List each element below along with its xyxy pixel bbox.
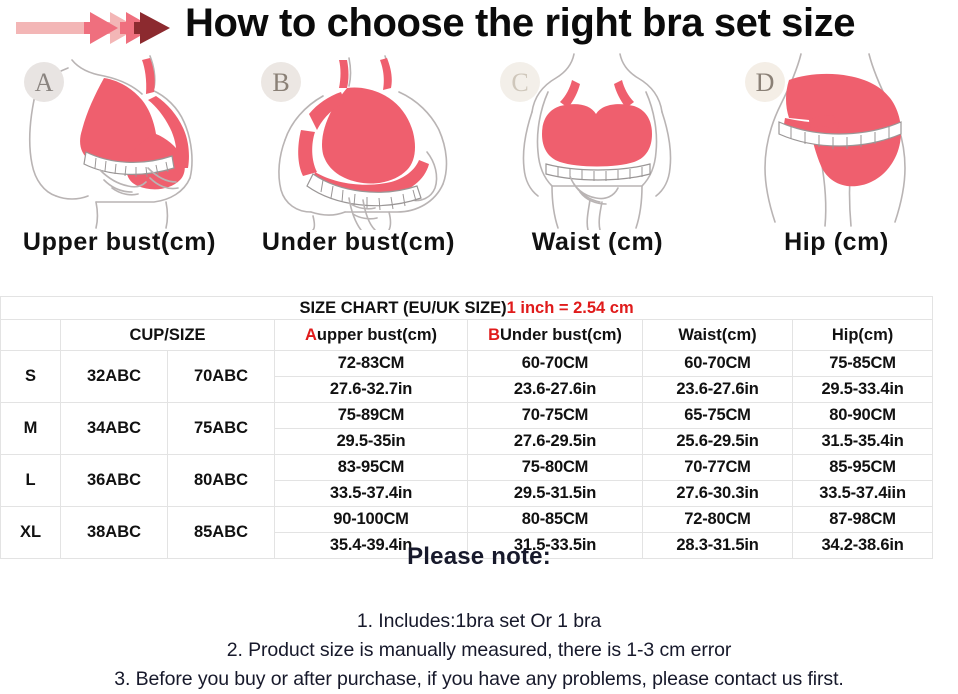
table-row: XL 38ABC 85ABC 90-100CM 80-85CM 72-80CM …: [1, 507, 933, 533]
badge-a-icon: A: [22, 60, 66, 104]
svg-text:C: C: [511, 68, 528, 97]
table-header-row: CUP/SIZE Aupper bust(cm) BUnder bust(cm)…: [1, 320, 933, 351]
size-label-m: M: [1, 403, 61, 455]
table-title-row: SIZE CHART (EU/UK SIZE)1 inch = 2.54 cm: [1, 297, 933, 320]
measurement-illustrations: A Upper bust(cm): [0, 52, 958, 280]
svg-text:D: D: [756, 68, 775, 97]
size-label-l: L: [1, 455, 61, 507]
notes-list: 1. Includes:1bra set Or 1 bra 2. Product…: [0, 607, 958, 694]
under-bust-in-l: 29.5-31.5in: [468, 481, 643, 507]
upper-bust-cm-l: 83-95CM: [275, 455, 468, 481]
panel-under-bust: B Under bust(cm): [239, 52, 478, 280]
note-line: 2. Product size is manually measured, th…: [0, 636, 958, 665]
header-under-bust: BUnder bust(cm): [468, 320, 643, 351]
header-blank: [1, 320, 61, 351]
header-prefix-a: A: [305, 326, 317, 344]
hip-cm-s: 75-85CM: [793, 351, 933, 377]
header-cup-size: CUP/SIZE: [61, 320, 275, 351]
upper-bust-in-l: 33.5-37.4in: [275, 481, 468, 507]
under-bust-in-m: 27.6-29.5in: [468, 429, 643, 455]
hip-in-m: 31.5-35.4in: [793, 429, 933, 455]
page-title: How to choose the right bra set size: [185, 1, 855, 46]
waist-cm-m: 65-75CM: [643, 403, 793, 429]
panel-label-upper-bust: Upper bust(cm): [0, 228, 239, 257]
eu-size-l: 36ABC: [61, 455, 168, 507]
chart-title-cell: SIZE CHART (EU/UK SIZE)1 inch = 2.54 cm: [1, 297, 933, 320]
upper-bust-in-s: 27.6-32.7in: [275, 377, 468, 403]
table-row: S 32ABC 70ABC 72-83CM 60-70CM 60-70CM 75…: [1, 351, 933, 377]
notes-heading: Please note:: [0, 543, 958, 571]
panel-label-waist: Waist (cm): [478, 228, 717, 257]
header-prefix-b: B: [488, 326, 500, 344]
upper-bust-cm-s: 72-83CM: [275, 351, 468, 377]
under-bust-cm-xl: 80-85CM: [468, 507, 643, 533]
hip-cm-m: 80-90CM: [793, 403, 933, 429]
waist-in-m: 25.6-29.5in: [643, 429, 793, 455]
page-header: How to choose the right bra set size: [0, 0, 958, 54]
upper-bust-cm-m: 75-89CM: [275, 403, 468, 429]
badge-b-icon: B: [259, 60, 303, 104]
upper-bust-in-m: 29.5-35in: [275, 429, 468, 455]
waist-cm-s: 60-70CM: [643, 351, 793, 377]
badge-d-icon: D: [743, 60, 787, 104]
eu-size-m: 34ABC: [61, 403, 168, 455]
table-row: L 36ABC 80ABC 83-95CM 75-80CM 70-77CM 85…: [1, 455, 933, 481]
note-line: 1. Includes:1bra set Or 1 bra: [0, 607, 958, 636]
panel-upper-bust: A Upper bust(cm): [0, 52, 239, 280]
svg-text:A: A: [35, 68, 54, 97]
notes-section: Please note: 1. Includes:1bra set Or 1 b…: [0, 543, 958, 694]
chart-title-conversion: 1 inch = 2.54 cm: [507, 299, 634, 317]
header-upper-bust: Aupper bust(cm): [275, 320, 468, 351]
waist-cm-xl: 72-80CM: [643, 507, 793, 533]
waist-cm-l: 70-77CM: [643, 455, 793, 481]
badge-c-icon: C: [498, 60, 542, 104]
panel-label-under-bust: Under bust(cm): [239, 228, 478, 257]
hip-in-s: 29.5-33.4in: [793, 377, 933, 403]
hip-cm-xl: 87-98CM: [793, 507, 933, 533]
under-bust-cm-l: 75-80CM: [468, 455, 643, 481]
under-bust-cm-s: 60-70CM: [468, 351, 643, 377]
arrow-decoration-icon: [14, 8, 189, 48]
panel-waist: C Waist (cm): [478, 52, 717, 280]
header-text-upper-bust: upper bust(cm): [317, 326, 437, 344]
uk-size-l: 80ABC: [168, 455, 275, 507]
uk-size-s: 70ABC: [168, 351, 275, 403]
size-chart-table: SIZE CHART (EU/UK SIZE)1 inch = 2.54 cm …: [0, 296, 933, 559]
size-label-s: S: [1, 351, 61, 403]
waist-in-s: 23.6-27.6in: [643, 377, 793, 403]
note-line: 3. Before you buy or after purchase, if …: [0, 665, 958, 694]
upper-bust-cm-xl: 90-100CM: [275, 507, 468, 533]
panel-label-hip: Hip (cm): [717, 228, 956, 257]
hip-cm-l: 85-95CM: [793, 455, 933, 481]
table-row: M 34ABC 75ABC 75-89CM 70-75CM 65-75CM 80…: [1, 403, 933, 429]
under-bust-in-s: 23.6-27.6in: [468, 377, 643, 403]
panel-hip: D Hip (cm): [717, 52, 956, 280]
waist-in-l: 27.6-30.3in: [643, 481, 793, 507]
chart-title-main: SIZE CHART (EU/UK SIZE): [299, 299, 506, 317]
under-bust-cm-m: 70-75CM: [468, 403, 643, 429]
hip-in-l: 33.5-37.4iin: [793, 481, 933, 507]
eu-size-s: 32ABC: [61, 351, 168, 403]
header-text-under-bust: Under bust(cm): [500, 326, 622, 344]
header-hip: Hip(cm): [793, 320, 933, 351]
header-waist: Waist(cm): [643, 320, 793, 351]
uk-size-m: 75ABC: [168, 403, 275, 455]
svg-text:B: B: [272, 68, 289, 97]
